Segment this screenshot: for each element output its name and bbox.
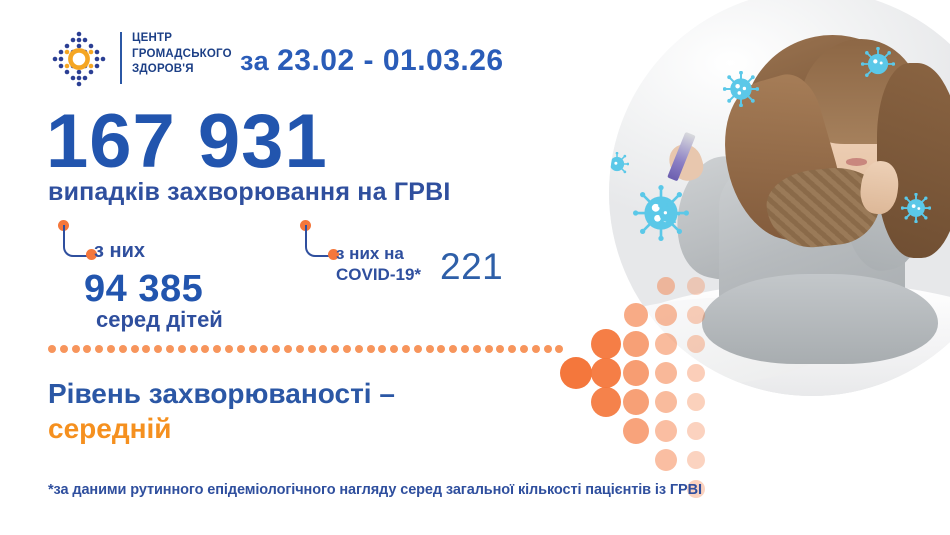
- grid-dot: [623, 389, 649, 415]
- grid-dot: [655, 391, 677, 413]
- divider-dot: [520, 345, 528, 353]
- phc-diamond-dots-logo-icon: [48, 30, 110, 88]
- virus-particle-icon: [723, 71, 759, 107]
- report-date-range: за 23.02 - 01.03.26: [240, 44, 504, 78]
- dotted-line-divider: [48, 345, 563, 354]
- divider-dot: [119, 345, 127, 353]
- divider-dot: [355, 345, 363, 353]
- divider-dot: [437, 345, 445, 353]
- virus-particle-icon: [654, 201, 680, 227]
- virus-particle-icon: [901, 193, 931, 223]
- grid-dot: [560, 357, 592, 389]
- photo-legs: [702, 274, 937, 363]
- grid-dot: [591, 387, 621, 417]
- grid-dot: [623, 418, 649, 444]
- divider-dot: [272, 345, 280, 353]
- divider-dot: [555, 345, 563, 353]
- date-prefix: за: [240, 46, 277, 76]
- divider-dot: [284, 345, 292, 353]
- divider-dot: [249, 345, 257, 353]
- infographic-canvas: ЦЕНТР ГРОМАДСЬКОГО ЗДОРОВ'Я за 23.02 - 0…: [0, 0, 950, 535]
- grid-dot: [655, 420, 677, 442]
- grid-dot: [623, 360, 649, 386]
- grid-dot: [687, 335, 705, 353]
- date-value: 23.02 - 01.03.26: [277, 44, 504, 77]
- grid-dot: [687, 277, 705, 295]
- logo-line-2: ГРОМАДСЬКОГО: [132, 47, 232, 63]
- grid-dot: [623, 331, 649, 357]
- grid-dot: [687, 306, 705, 324]
- grid-dot: [655, 333, 677, 355]
- divider-dot: [95, 345, 103, 353]
- divider-dot: [190, 345, 198, 353]
- photo-hair-right: [877, 63, 950, 258]
- stat-covid-label-line1: з них на: [336, 243, 421, 264]
- photo-lips: [846, 158, 867, 165]
- stat-covid-label: з них на COVID-19*: [336, 243, 421, 285]
- stat-covid-value: 221: [440, 246, 503, 288]
- grid-dot: [687, 393, 705, 411]
- total-cases-caption: випадків захворювання на ГРВІ: [48, 178, 451, 207]
- incidence-level-label: Рівень захворюваності –: [48, 378, 395, 410]
- divider-dot: [402, 345, 410, 353]
- divider-dot: [201, 345, 209, 353]
- stat-children-label: з них: [94, 240, 145, 263]
- stat-children-value: 94 385: [84, 268, 203, 311]
- grid-dot: [591, 358, 621, 388]
- stat-covid-label-line2: COVID-19*: [336, 264, 421, 285]
- logo-line-1: ЦЕНТР: [132, 31, 232, 47]
- divider-dot: [544, 345, 552, 353]
- divider-dot: [308, 345, 316, 353]
- divider-dot: [166, 345, 174, 353]
- divider-dot: [414, 345, 422, 353]
- divider-dot: [72, 345, 80, 353]
- grid-dot: [591, 329, 621, 359]
- grid-dot: [624, 303, 648, 327]
- divider-dot: [378, 345, 386, 353]
- divider-dot: [508, 345, 516, 353]
- divider-dot: [260, 345, 268, 353]
- divider-dot: [154, 345, 162, 353]
- logo-wordmark: ЦЕНТР ГРОМАДСЬКОГО ЗДОРОВ'Я: [132, 31, 232, 78]
- logo-line-3: ЗДОРОВ'Я: [132, 62, 232, 78]
- divider-dot: [319, 345, 327, 353]
- divider-dot: [461, 345, 469, 353]
- divider-dot: [225, 345, 233, 353]
- grid-dot: [687, 422, 705, 440]
- divider-dot: [131, 345, 139, 353]
- logo-divider: [120, 32, 122, 84]
- grid-dot: [687, 451, 705, 469]
- virus-particle-icon: [861, 47, 895, 81]
- divider-dot: [296, 345, 304, 353]
- divider-dot: [142, 345, 150, 353]
- divider-dot: [178, 345, 186, 353]
- footnote: *за даними рутинного епідеміологічного н…: [48, 482, 702, 498]
- incidence-level-value: середній: [48, 413, 172, 445]
- grid-dot: [655, 304, 677, 326]
- divider-dot: [449, 345, 457, 353]
- grid-dot: [657, 277, 675, 295]
- divider-dot: [107, 345, 115, 353]
- grid-dot: [655, 449, 677, 471]
- virus-particle-icon: [609, 152, 629, 176]
- divider-dot: [331, 345, 339, 353]
- grid-dot: [687, 364, 705, 382]
- divider-dot: [426, 345, 434, 353]
- divider-dot: [343, 345, 351, 353]
- divider-dot: [496, 345, 504, 353]
- divider-dot: [367, 345, 375, 353]
- total-cases-value: 167 931: [46, 104, 328, 180]
- divider-dot: [532, 345, 540, 353]
- divider-dot: [390, 345, 398, 353]
- grid-dot: [655, 362, 677, 384]
- stat-children-sublabel: серед дітей: [96, 307, 223, 333]
- divider-dot: [83, 345, 91, 353]
- divider-dot: [48, 345, 56, 353]
- divider-dot: [237, 345, 245, 353]
- divider-dot: [473, 345, 481, 353]
- orange-dot-grid: [560, 270, 720, 490]
- divider-dot: [485, 345, 493, 353]
- divider-dot: [213, 345, 221, 353]
- divider-dot: [60, 345, 68, 353]
